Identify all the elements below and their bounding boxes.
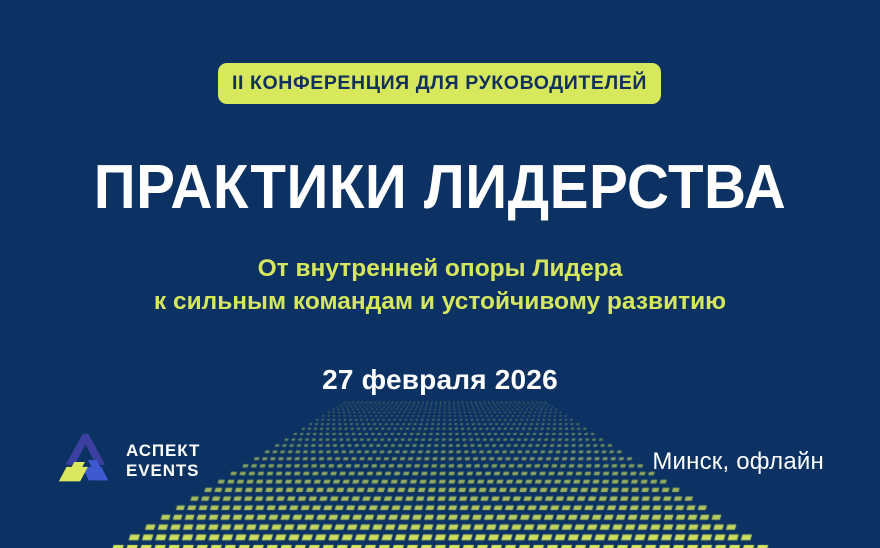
- subtitle-line-2: к сильным командам и устойчивому развити…: [0, 285, 880, 318]
- subtitle-line-1: От внутренней опоры Лидера: [258, 255, 623, 282]
- brand-logo-line-2: EVENTS: [126, 461, 200, 481]
- aspect-a-logo-icon: [53, 430, 115, 492]
- event-location: Минск, офлайн: [652, 448, 824, 476]
- event-date: 27 февраля 2026: [0, 364, 880, 396]
- brand-logo-wordmark: АСПЕКТ EVENTS: [126, 441, 200, 481]
- conference-badge: II КОНФЕРЕНЦИЯ ДЛЯ РУКОВОДИТЕЛЕЙ: [218, 63, 661, 104]
- conference-banner: II КОНФЕРЕНЦИЯ ДЛЯ РУКОВОДИТЕЛЕЙ ПРАКТИК…: [0, 0, 880, 548]
- conference-badge-label: II КОНФЕРЕНЦИЯ ДЛЯ РУКОВОДИТЕЛЕЙ: [232, 72, 647, 95]
- brand-logo: АСПЕКТ EVENTS: [53, 430, 200, 492]
- page-title: ПРАКТИКИ ЛИДЕРСТВА: [26, 152, 853, 224]
- brand-logo-line-1: АСПЕКТ: [126, 441, 200, 461]
- subtitle: От внутренней опоры Лидера к сильным ком…: [0, 252, 880, 318]
